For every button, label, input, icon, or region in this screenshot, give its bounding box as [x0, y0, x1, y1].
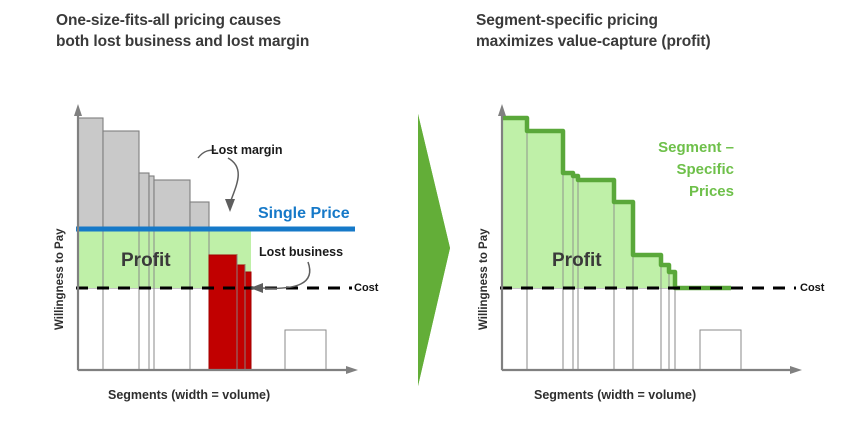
lost-business-label: Lost business [259, 245, 343, 259]
x-axis-arrowhead-left [346, 366, 358, 374]
cost-label-left: Cost [354, 282, 378, 294]
lost-margin-arrowhead [225, 199, 235, 212]
y-axis-arrowhead-right [498, 104, 506, 116]
single-price-label: Single Price [258, 205, 350, 223]
segment-prices-line-1: Segment – [594, 137, 734, 159]
segment-prices-line-3: Prices [594, 181, 734, 203]
right-y-axis-label: Willingness to Pay [478, 228, 490, 330]
left-segment-frames [78, 288, 326, 370]
left-x-axis-label: Segments (width = volume) [108, 388, 270, 402]
y-axis-arrowhead-left [74, 104, 82, 116]
segment-prices-line-2: Specific [594, 159, 734, 181]
right-panel: Segment-specific pricing maximizes value… [444, 0, 864, 430]
lost-business-arrowhead [250, 283, 263, 293]
right-x-axis-label: Segments (width = volume) [534, 388, 696, 402]
profit-label-left: Profit [121, 250, 171, 272]
lost-business-arrow-curve [262, 262, 310, 288]
right-chart-graphic [444, 0, 864, 430]
profit-label-right: Profit [552, 250, 602, 272]
right-segment-frames [502, 288, 741, 370]
segment-specific-prices-label: Segment – Specific Prices [594, 137, 734, 203]
left-chart-graphic [0, 0, 420, 430]
lost-margin-label: Lost margin [211, 143, 283, 157]
cost-label-right: Cost [800, 282, 824, 294]
x-axis-arrowhead-right [790, 366, 802, 374]
lost-margin-bars [78, 118, 209, 229]
left-y-axis-label: Willingness to Pay [54, 228, 66, 330]
lost-margin-arrow-curve [228, 158, 238, 203]
slide-canvas: One-size-fits-all pricing causes both lo… [0, 0, 864, 430]
left-panel: One-size-fits-all pricing causes both lo… [0, 0, 420, 430]
